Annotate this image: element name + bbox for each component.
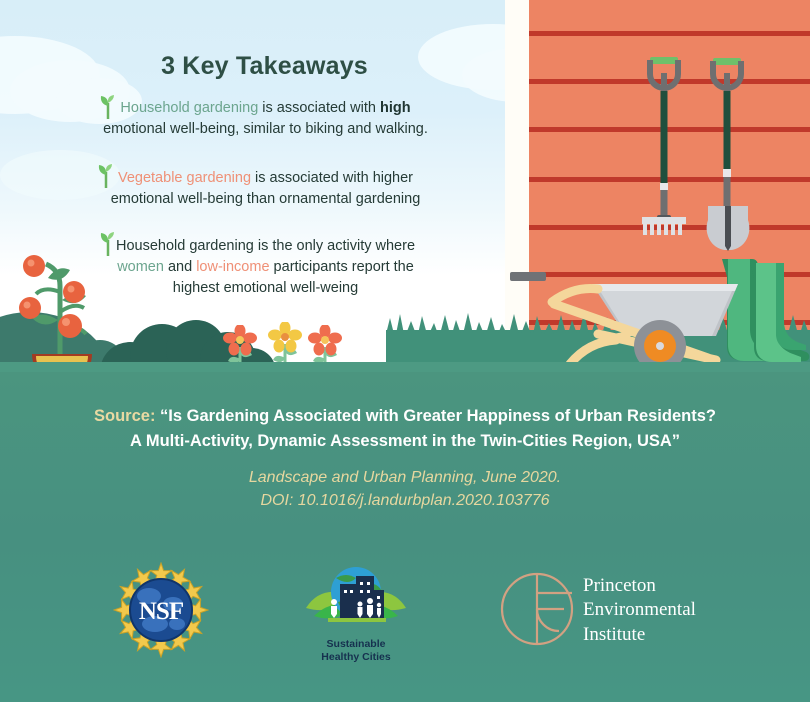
- pei-line-1: Princeton: [583, 574, 696, 598]
- takeaway-bold-high: high: [380, 100, 411, 116]
- takeaway-highlight-vegetable: Vegetable gardening: [118, 170, 251, 186]
- source-citation: Source: “Is Gardening Associated with Gr…: [0, 404, 810, 454]
- pei-line-3: Institute: [583, 623, 696, 647]
- takeaway-plain-3b: and: [164, 259, 196, 275]
- takeaway-item-1: Household gardening is associated with h…: [18, 98, 513, 140]
- infographic-root: 3 Key Takeaways Household gardening is a…: [0, 0, 810, 702]
- logo-row: NSF: [0, 562, 810, 672]
- sprout-icon: [100, 95, 116, 119]
- takeaway-highlight-women: women: [117, 259, 164, 275]
- takeaway-highlight-lowincome: low-income: [196, 259, 269, 275]
- sustainable-healthy-cities-label: Sustainable Healthy Cities: [296, 638, 416, 664]
- takeaway-plain-2b: emotional well-being than ornamental gar…: [111, 191, 421, 207]
- top-illustration-section: 3 Key Takeaways Household gardening is a…: [0, 0, 810, 372]
- takeaway-plain-3d: highest emotional well-weing: [173, 280, 358, 296]
- sustainable-healthy-cities-logo[interactable]: [300, 564, 412, 636]
- takeaway-plain-3c: participants report the: [270, 259, 414, 275]
- page-title: 3 Key Takeaways: [0, 52, 529, 81]
- journal-info: Landscape and Urban Planning, June 2020.…: [0, 466, 810, 512]
- source-label: Source:: [94, 407, 155, 425]
- princeton-environmental-institute-mark[interactable]: [498, 570, 576, 648]
- wheelbarrow: [540, 272, 760, 372]
- pei-line-2: Environmental: [583, 598, 696, 622]
- takeaway-plain-1a: is associated with: [258, 100, 380, 116]
- shc-line-1: Sustainable: [327, 638, 386, 650]
- takeaways-list: Household gardening is associated with h…: [18, 98, 513, 321]
- rake-tool: [636, 57, 692, 235]
- takeaway-text-3: Household gardening is the only activity…: [18, 236, 513, 299]
- takeaway-item-3: Household gardening is the only activity…: [18, 236, 513, 299]
- nsf-logo[interactable]: NSF: [113, 562, 209, 658]
- sprout-icon: [100, 232, 116, 256]
- takeaway-text-1: Household gardening is associated with h…: [18, 98, 513, 140]
- source-line-1: Source: “Is Gardening Associated with Gr…: [0, 404, 810, 429]
- footer-section: Source: “Is Gardening Associated with Gr…: [0, 372, 810, 702]
- takeaway-item-2: Vegetable gardening is associated with h…: [18, 168, 513, 210]
- shc-line-2: Healthy Cities: [321, 651, 390, 663]
- sprout-icon: [98, 164, 114, 188]
- svg-text:NSF: NSF: [139, 598, 184, 625]
- journal-doi[interactable]: DOI: 10.1016/j.landurbplan.2020.103776: [0, 489, 810, 512]
- journal-name: Landscape and Urban Planning, June 2020.: [0, 466, 810, 489]
- takeaway-plain-1b: emotional well-being, similar to biking …: [103, 121, 428, 137]
- ground-band: [0, 362, 810, 372]
- princeton-environmental-institute-label: Princeton Environmental Institute: [583, 574, 696, 647]
- source-title-line-1: “Is Gardening Associated with Greater Ha…: [160, 407, 716, 425]
- takeaway-highlight-household: Household gardening: [120, 100, 258, 116]
- spade-tool: [700, 58, 756, 253]
- takeaway-text-2: Vegetable gardening is associated with h…: [18, 168, 513, 210]
- takeaway-plain-3a: Household gardening is the only activity…: [116, 238, 415, 254]
- source-title-line-2: A Multi-Activity, Dynamic Assessment in …: [0, 429, 810, 454]
- takeaway-plain-2a: is associated with higher: [251, 170, 413, 186]
